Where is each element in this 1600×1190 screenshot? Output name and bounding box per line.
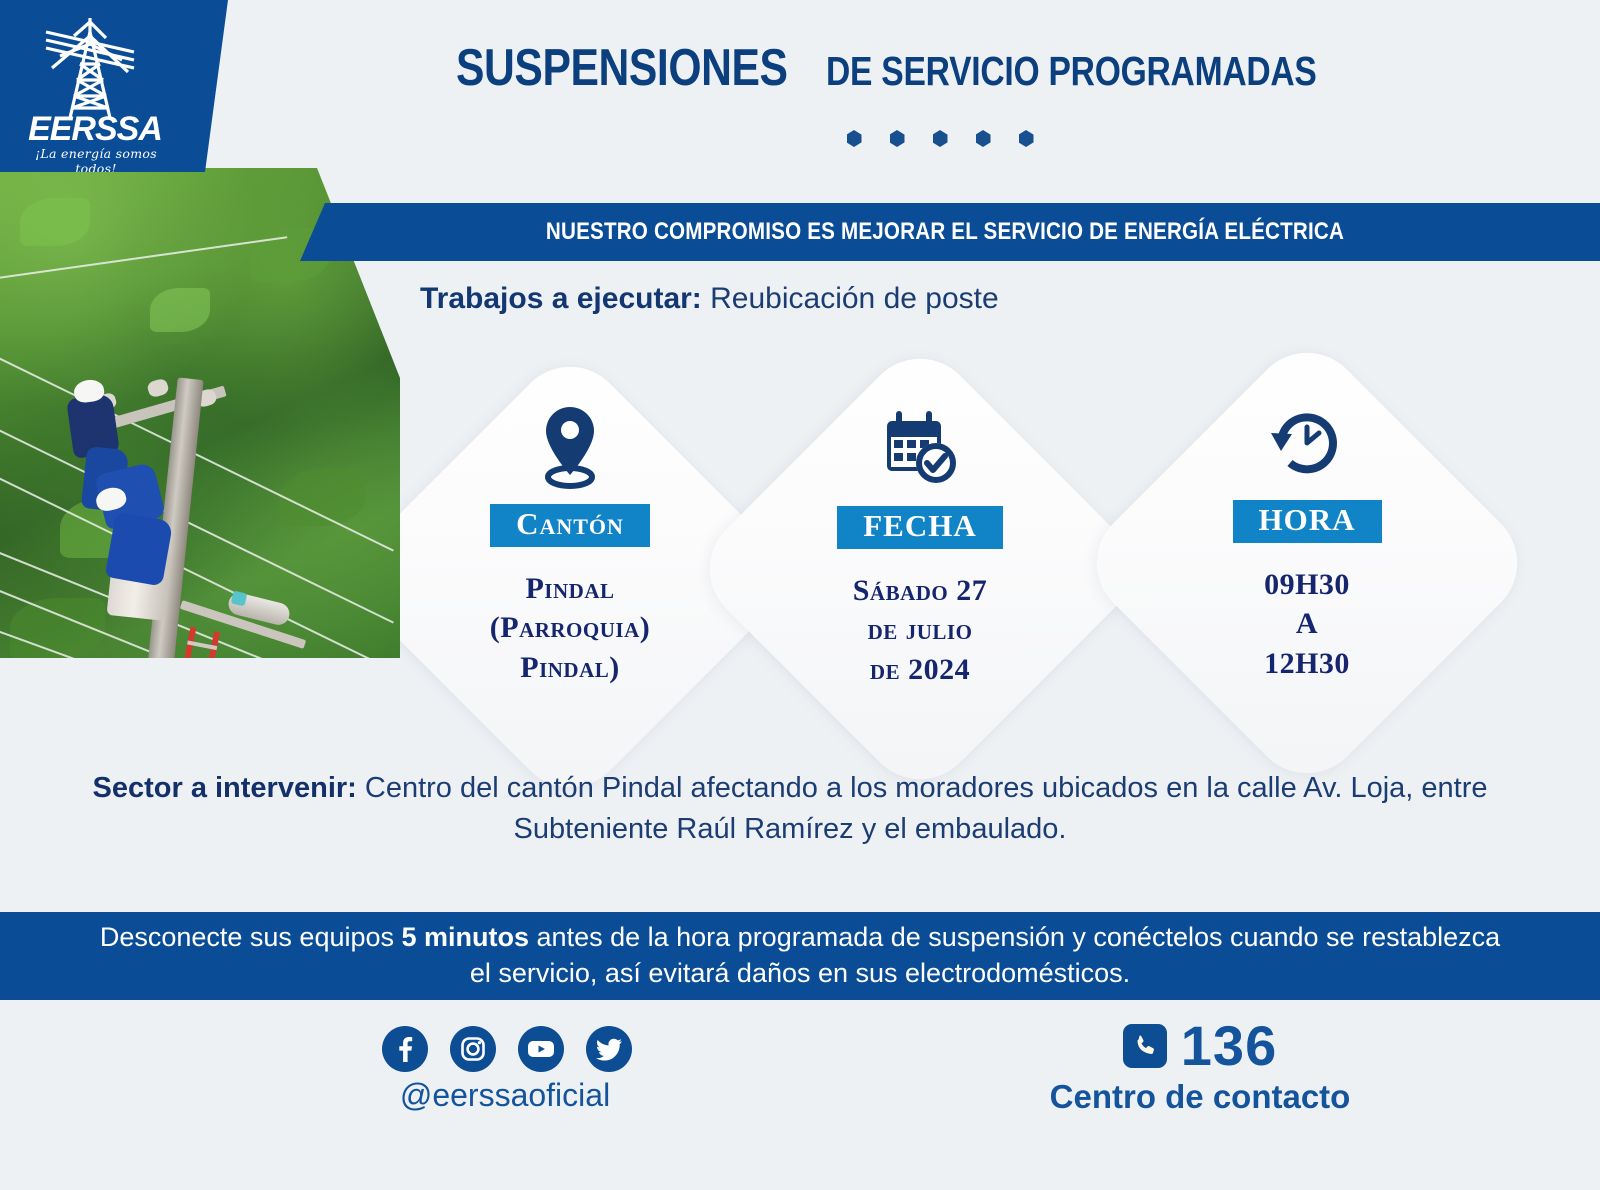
card-value-line: A — [1142, 604, 1472, 644]
warning-text: Desconecte sus equipos 5 minutos antes d… — [90, 920, 1510, 992]
info-card-hora: HORA 09H30A12H30 — [1142, 392, 1472, 683]
clock-history-glyph — [1267, 403, 1347, 481]
card-badge-hora: HORA — [1233, 500, 1382, 543]
logo-slogan: ¡La energía somos todos! — [20, 146, 172, 176]
foliage-shape — [150, 288, 210, 332]
card-value-line: (Parroquia) — [405, 608, 735, 648]
card-badge-canton: Cantón — [490, 504, 650, 547]
phone-icon — [1123, 1024, 1167, 1068]
twitter-icon[interactable] — [586, 1026, 632, 1072]
eerssa-logo: EERSSA ¡La energía somos todos! — [14, 8, 174, 166]
commitment-banner: NUESTRO COMPROMISO ES MEJORAR EL SERVICI… — [300, 203, 1600, 261]
warning-part1: Desconecte sus equipos — [100, 922, 402, 952]
social-handle: @eerssaoficial — [330, 1077, 680, 1114]
card-value-line: de 2024 — [755, 650, 1085, 690]
card-value-line: Pindal) — [405, 648, 735, 688]
card-value-canton: Pindal(Parroquia)Pindal) — [405, 569, 735, 688]
info-card-fecha: FECHA Sábado 27de juliode 2024 — [755, 398, 1085, 689]
clock-history-icon — [1142, 392, 1472, 492]
works-value: Reubicación de poste — [710, 282, 999, 315]
sector-text: Centro del cantón Pindal afectando a los… — [365, 772, 1488, 845]
logo-banner: EERSSA ¡La energía somos todos! — [0, 0, 228, 172]
card-value-line: 12H30 — [1142, 644, 1472, 684]
warning-bar: Desconecte sus equipos 5 minutos antes d… — [0, 912, 1600, 1000]
contact-number: 136 — [1181, 1018, 1277, 1074]
contact-center: 136 Centro de contacto — [1000, 1018, 1400, 1116]
facebook-icon[interactable] — [382, 1026, 428, 1072]
card-value-hora: 09H30A12H30 — [1142, 565, 1472, 684]
works-label: Trabajos a ejecutar: — [420, 282, 702, 315]
location-pin-glyph — [538, 405, 602, 491]
sector-label: Sector a intervenir: — [93, 772, 357, 804]
logo-wordmark: EERSSA — [20, 112, 170, 146]
social-links[interactable] — [382, 1026, 632, 1072]
card-value-line: Pindal — [405, 569, 735, 609]
suspension-notice-poster: EERSSA ¡La energía somos todos! SUSPENSI… — [0, 0, 1600, 1190]
calendar-check-icon — [755, 398, 1085, 498]
card-badge-fecha: FECHA — [837, 506, 1003, 549]
warning-highlight: 5 minutos — [402, 922, 530, 952]
card-value-fecha: Sábado 27de juliode 2024 — [755, 571, 1085, 690]
worker-2-legs — [105, 511, 174, 586]
card-value-line: 09H30 — [1142, 565, 1472, 605]
sector-line: Sector a intervenir: Centro del cantón P… — [40, 768, 1540, 850]
card-value-line: de julio — [755, 610, 1085, 650]
contact-label: Centro de contacto — [1000, 1078, 1400, 1116]
card-value-line: Sábado 27 — [755, 571, 1085, 611]
foliage-shape — [20, 198, 90, 246]
warning-part2: antes de la hora programada de suspensió… — [470, 922, 1500, 988]
youtube-icon[interactable] — [518, 1026, 564, 1072]
location-pin-icon — [405, 398, 735, 498]
info-card-canton: Cantón Pindal(Parroquia)Pindal) — [405, 398, 735, 687]
calendar-check-glyph — [881, 409, 959, 487]
works-line: Trabajos a ejecutar: Reubicación de post… — [420, 282, 999, 316]
commitment-text: NUESTRO COMPROMISO ES MEJORAR EL SERVICI… — [390, 203, 1499, 261]
instagram-icon[interactable] — [450, 1026, 496, 1072]
